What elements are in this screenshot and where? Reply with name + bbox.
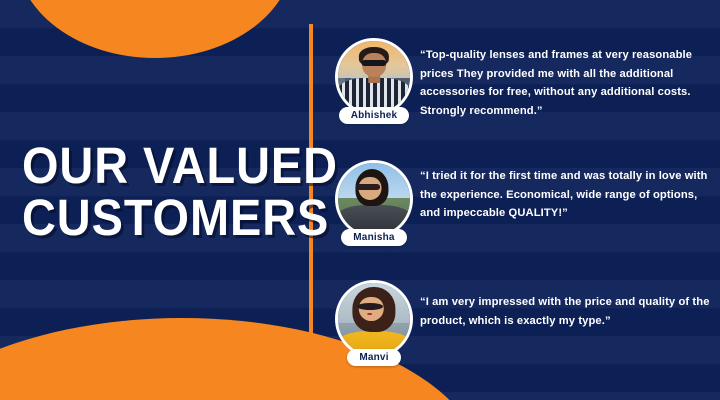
testimonial-item: Manvi “I am very impressed with the pric… xyxy=(330,280,720,366)
avatar-lips xyxy=(367,313,373,316)
testimonial-quote: “I am very impressed with the price and … xyxy=(418,280,720,330)
testimonial-banner: OUR VALUED CUSTOMERS Abhishek xyxy=(0,0,720,400)
testimonial-quote: “I tried it for the first time and was t… xyxy=(418,160,720,223)
avatar-photo xyxy=(338,163,410,235)
status-badge: Manvi xyxy=(347,349,400,366)
avatar-photo xyxy=(338,283,410,355)
headline-line-2: CUSTOMERS xyxy=(22,192,280,244)
avatar-sunglasses xyxy=(356,184,380,190)
avatar-photo xyxy=(338,41,410,113)
testimonial-person: Manvi xyxy=(330,280,418,366)
testimonial-person: Manisha xyxy=(330,160,418,246)
avatar-abhishek xyxy=(335,38,413,116)
headline-line-1: OUR VALUED xyxy=(22,140,280,192)
testimonial-person: Abhishek xyxy=(330,38,418,124)
testimonial-item: Manisha “I tried it for the first time a… xyxy=(330,160,720,246)
avatar-manisha xyxy=(335,160,413,238)
avatar-sunglasses xyxy=(361,60,386,66)
testimonial-list: Abhishek “Top-quality lenses and frames … xyxy=(330,0,720,400)
avatar-manvi xyxy=(335,280,413,358)
page-title: OUR VALUED CUSTOMERS xyxy=(22,140,302,244)
status-badge: Manisha xyxy=(341,229,406,246)
status-badge: Abhishek xyxy=(339,107,410,124)
testimonial-quote: “Top-quality lenses and frames at very r… xyxy=(418,38,720,120)
testimonial-item: Abhishek “Top-quality lenses and frames … xyxy=(330,38,720,124)
